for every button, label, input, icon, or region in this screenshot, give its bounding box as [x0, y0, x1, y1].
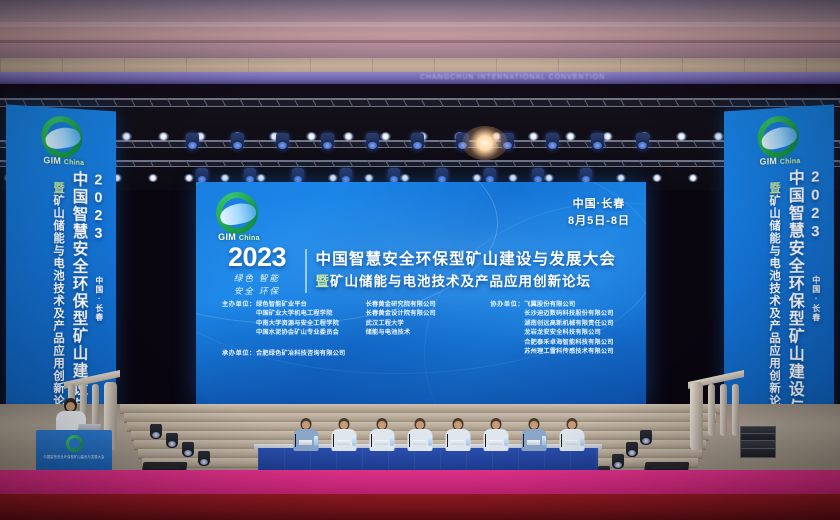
conference-stage-scene: CHANGCHUN INTERNATIONAL CONVENTION GIM C… — [0, 0, 840, 520]
moving-head-light — [186, 133, 199, 150]
panel-member-face — [416, 421, 424, 429]
table-microphone — [295, 434, 296, 447]
spotlight-lower — [220, 174, 230, 182]
spotlight-lower — [652, 174, 662, 182]
floor-moving-head — [640, 430, 652, 445]
podium-title-line1: 中国智慧安全环保型矿山建设与发展大会 — [40, 455, 108, 460]
spotlight-lower — [616, 174, 626, 182]
table-microphone — [561, 434, 562, 447]
moving-head-light — [244, 168, 256, 183]
spotlight-upper — [306, 132, 317, 141]
coorg-row: 协办单位：龙岩龙安安全科技有限公司 — [490, 328, 632, 337]
host-row: 长春黄金研究院有限公司 — [366, 300, 491, 309]
screen-year: 2023 — [218, 244, 296, 271]
moving-head-light — [196, 168, 208, 183]
lighting-truss-lower — [0, 160, 840, 167]
moving-head-light — [546, 133, 559, 150]
floor-moving-head — [612, 454, 624, 469]
table-microphone — [371, 434, 372, 447]
coorg-row: 协办单位：长沙迪迈数码科技股份有限公司 — [490, 309, 632, 318]
undertaker-row: 承办单位：合肥绿色矿冶科技咨询有限公司 — [222, 348, 345, 357]
table-microphone — [333, 434, 334, 447]
panel-member-face — [568, 421, 576, 429]
ceiling-light-band — [0, 22, 840, 27]
water-bottle — [466, 436, 470, 446]
banner-left-city: 中国·长春 — [94, 276, 105, 322]
spotlight-lower — [688, 174, 698, 182]
screen-year-block: 2023 绿色 智能 安全 环保 — [218, 244, 296, 297]
spotlight-lower — [328, 174, 338, 182]
moving-head-light — [484, 168, 496, 183]
host-column-2: 长春黄金研究院有限公司 长春黄金设计院有限公司 武汉工程大学 储能与电池技术 — [366, 300, 491, 356]
name-plate — [299, 440, 312, 445]
water-bottle — [390, 436, 394, 446]
panel-member-face — [530, 421, 538, 429]
screen-dates: 8月5日-8日 — [568, 213, 630, 230]
screen-location-date: 中国·长春 8月5日-8日 — [568, 196, 630, 230]
host-row: 主办单位：中国矿业大学机电工程学院 — [222, 309, 366, 318]
spotlight-upper — [565, 132, 576, 141]
water-bottle — [580, 436, 584, 446]
floor-moving-head — [150, 424, 162, 439]
moving-head-light — [340, 168, 352, 183]
wall-sign-text: CHANGCHUN INTERNATIONAL CONVENTION — [420, 72, 620, 84]
spotlight-lower — [256, 174, 266, 182]
panel-member-face — [492, 421, 500, 429]
gim-china-logo-icon: GIM China — [210, 192, 268, 244]
road-case — [740, 440, 776, 458]
banner-left-logo-icon: GIM China — [35, 114, 88, 167]
spotlight-upper — [713, 132, 724, 141]
screen-slogan-line2: 安全 环保 — [218, 286, 296, 297]
spotlight-upper — [528, 132, 539, 141]
coorganizer-column: 协办单位：飞翼股份有限公司 协办单位：长沙迪迈数码科技股份有限公司 协办单位：湖… — [490, 300, 632, 356]
host-row: 长春黄金设计院有限公司 — [366, 309, 491, 318]
host-label-row: 主办单位：绿色智能矿业平台 — [222, 300, 366, 309]
name-plate — [337, 440, 350, 445]
panel-member-face — [454, 421, 462, 429]
table-microphone — [447, 434, 448, 447]
coorg-row: 协办单位：苏州理工雷科传感技术有限公司 — [490, 347, 632, 356]
table-microphone — [485, 434, 486, 447]
water-bottle — [504, 436, 508, 446]
spotlight-lower — [544, 174, 554, 182]
moving-head-light — [276, 133, 289, 150]
water-bottle — [542, 436, 546, 446]
table-microphone — [523, 434, 524, 447]
podium-logo-icon — [61, 435, 87, 453]
spotlight-upper — [676, 132, 687, 141]
moving-head-light — [636, 133, 649, 150]
coorg-row: 协办单位：合肥泰禾卓海智能科技有限公司 — [490, 338, 632, 347]
moving-head-light — [366, 133, 379, 150]
coorg-label-row: 协办单位：飞翼股份有限公司 — [490, 300, 632, 309]
spotlight-upper — [121, 132, 132, 141]
screen-location: 中国·长春 — [568, 196, 630, 213]
moving-head-light — [321, 133, 334, 150]
conference-title: 中国智慧安全环保型矿山建设与发展大会 — [316, 250, 629, 270]
floor-moving-head — [182, 442, 194, 457]
spotlight-lower — [148, 174, 158, 182]
lighting-truss-upper — [0, 98, 840, 107]
moving-head-light — [292, 168, 304, 183]
spotlight-lower — [184, 174, 194, 182]
auditorium-ceiling — [0, 0, 840, 62]
spotlight-lower — [364, 174, 374, 182]
spotlight-upper — [343, 132, 354, 141]
floor-moving-head — [626, 442, 638, 457]
name-plate — [489, 440, 502, 445]
water-bottle — [428, 436, 432, 446]
floor-moving-head — [166, 433, 178, 448]
host-row: 储能与电池技术 — [366, 328, 491, 337]
banner-right-city: 中国·长春 — [811, 276, 822, 323]
name-plate — [451, 440, 464, 445]
screen-title-row: 2023 绿色 智能 安全 环保 中国智慧安全环保型矿山建设与发展大会 暨矿山储… — [218, 244, 628, 297]
name-plate — [527, 440, 540, 445]
host-row: 主办单位：中国水泥协会矿山专业委员会 — [222, 328, 366, 337]
moving-head-light — [532, 168, 544, 183]
moving-head-light — [231, 133, 244, 150]
moving-head-light — [411, 133, 424, 150]
spotlight-lower — [400, 174, 410, 182]
host-row: 主办单位：中南大学资源与安全工程学院 — [222, 319, 366, 328]
main-led-screen: GIM China 中国·长春 8月5日-8日 2023 绿色 智能 安全 环保… — [196, 182, 646, 404]
name-plate — [413, 440, 426, 445]
floor-moving-head — [198, 451, 210, 466]
banner-left-year: 2023 — [90, 171, 106, 243]
host-row: 武汉工程大学 — [366, 319, 491, 328]
banner-right-year: 2023 — [807, 168, 824, 241]
moving-head-light — [388, 168, 400, 183]
spotlight-lower — [472, 174, 482, 182]
ceiling-shadow-band — [0, 40, 840, 43]
panel-member-face — [378, 421, 386, 429]
title-divider — [305, 249, 307, 293]
water-bottle — [352, 436, 356, 446]
spotlight-upper — [158, 132, 169, 141]
spotlight-lower — [508, 174, 518, 182]
bright-spotlight-glow — [462, 126, 508, 160]
screen-slogan-line1: 绿色 智能 — [218, 273, 296, 284]
red-carpet — [0, 494, 840, 520]
spotlight-upper — [380, 132, 391, 141]
moving-head-light — [591, 133, 604, 150]
moving-head-light — [436, 168, 448, 183]
banner-right-logo-icon: GIM China — [752, 114, 805, 167]
coorg-row: 协办单位：湖南创远高新机械有限责任公司 — [490, 319, 632, 328]
name-plate — [565, 440, 578, 445]
water-bottle — [314, 436, 318, 446]
panel-member-face — [340, 421, 348, 429]
conference-subtitle: 暨矿山储能与电池技术及产品应用创新论坛 — [316, 272, 629, 291]
banner-right-subtitle: 暨矿山储能与电池技术及产品应用创新论坛 — [766, 182, 782, 420]
name-plate — [375, 440, 388, 445]
table-microphone — [409, 434, 410, 447]
balustrade-right — [688, 376, 744, 468]
moving-head-light — [580, 168, 592, 183]
panel-member-face — [302, 421, 310, 429]
